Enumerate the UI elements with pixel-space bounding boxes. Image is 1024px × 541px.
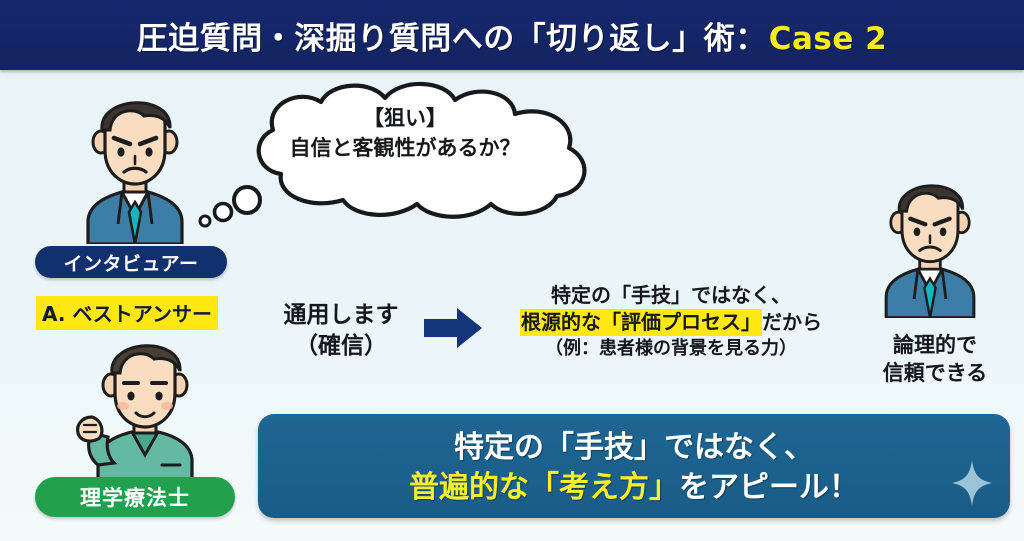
interviewer-reaction-line-2: 信頼できる — [855, 360, 1015, 388]
answer-reason-line-2: 根源的な「評価プロセス」だから — [492, 309, 850, 336]
therapist-role-pill: 理学療法士 — [35, 477, 235, 517]
summary-banner-line-2: 普遍的な「考え方」をアピール！ — [258, 468, 1010, 508]
answer-statement-line-1: 通用します — [256, 300, 426, 331]
sparkle-shape — [952, 460, 992, 506]
thought-bubble-text: 【狙い】 自信と客観性があるか？ — [195, 104, 615, 164]
summary-banner-line-1: 特定の「手技」ではなく、 — [258, 428, 1010, 468]
therapist-illustration — [62, 333, 222, 483]
slide-root: 圧迫質問・深掘り質問への「切り返し」術：Case 2 — [0, 0, 1024, 541]
interviewer-avatar-left — [60, 84, 210, 244]
summary-banner: 特定の「手技」ではなく、 普遍的な「考え方」をアピール！ — [258, 414, 1010, 518]
answer-reason-line-1: 特定の「手技」ではなく、 — [492, 282, 850, 309]
answer-reason-highlight: 根源的な「評価プロセス」 — [520, 309, 762, 336]
answer-statement: 通用します （確信） — [256, 300, 426, 363]
arrow-right-shape — [424, 308, 482, 348]
answer-reason-line-3: （例：患者様の背景を見る力） — [492, 337, 850, 361]
thought-bubble: 【狙い】 自信と客観性があるか？ — [195, 78, 615, 228]
page-title-accent: Case 2 — [769, 21, 888, 57]
slide-header: 圧迫質問・深掘り質問への「切り返し」術：Case 2 — [0, 0, 1024, 70]
answer-reason: 特定の「手技」ではなく、 根源的な「評価プロセス」だから （例：患者様の背景を見… — [492, 282, 850, 362]
interviewer-reaction-caption: 論理的で 信頼できる — [855, 332, 1015, 387]
summary-banner-text: 特定の「手技」ではなく、 普遍的な「考え方」をアピール！ — [258, 428, 1010, 508]
best-answer-badge: A. ベストアンサー — [36, 296, 218, 330]
summary-banner-accent: 普遍的な「考え方」 — [409, 470, 679, 505]
page-title-main: 圧迫質問・深掘り質問への「切り返し」術： — [137, 21, 767, 57]
arrow-right-icon — [424, 308, 482, 352]
sparkle-icon — [952, 460, 992, 510]
interviewer-avatar-right — [860, 168, 1000, 318]
summary-banner-tail: をアピール！ — [679, 470, 859, 505]
answer-reason-tail: だから — [762, 310, 822, 334]
interviewer-reaction-illustration — [860, 168, 1000, 318]
interviewer-illustration — [60, 84, 210, 244]
page-title: 圧迫質問・深掘り質問への「切り返し」術：Case 2 — [137, 13, 888, 58]
interviewer-reaction-line-1: 論理的で — [855, 332, 1015, 360]
interviewer-role-label: インタビュアー — [64, 249, 199, 276]
thought-bubble-line-1: 【狙い】 — [195, 104, 615, 134]
therapist-role-label: 理学療法士 — [80, 482, 190, 512]
answer-statement-line-2: （確信） — [256, 331, 426, 362]
interviewer-role-pill: インタビュアー — [35, 246, 227, 278]
therapist-avatar — [62, 333, 222, 483]
thought-bubble-line-2: 自信と客観性があるか？ — [195, 134, 615, 164]
